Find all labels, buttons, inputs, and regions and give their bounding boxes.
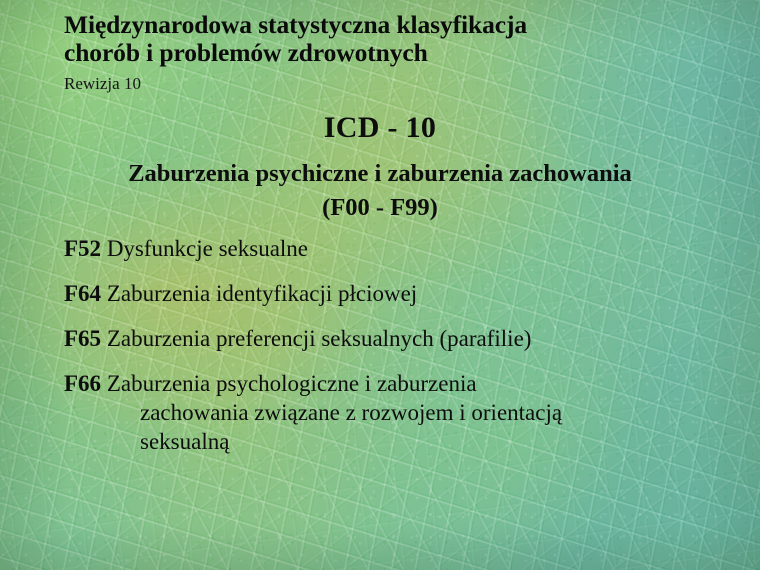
list-item: F52 Dysfunkcje seksualne [64,234,744,263]
presentation-slide: Międzynarodowa statystyczna klasyfikacja… [0,0,760,570]
list-item: F65 Zaburzenia preferencji seksualnych (… [64,324,744,353]
diagnosis-description: Zaburzenia identyfikacji płciowej [107,281,417,306]
list-item: F64 Zaburzenia identyfikacji płciowej [64,279,744,308]
slide-title: Międzynarodowa statystyczna klasyfikacja… [64,11,724,67]
list-item: F66 Zaburzenia psychologiczne i zaburzen… [64,369,744,456]
slide-revision-subtitle: Rewizja 10 [64,74,141,94]
diagnosis-description: Zaburzenia preferencji seksualnych (para… [107,326,532,351]
chapter-range-heading: (F00 - F99) [0,193,760,222]
diagnosis-code: F66 [64,371,101,396]
diagnosis-description-continued: seksualną [64,427,744,456]
diagnosis-code-list: F52 Dysfunkcje seksualne F64 Zaburzenia … [64,234,744,456]
icd-code-heading: ICD - 10 [0,111,760,145]
diagnosis-description: Dysfunkcje seksualne [107,236,308,261]
diagnosis-description-continued: zachowania związane z rozwojem i orienta… [64,398,744,427]
chapter-title-heading: Zaburzenia psychiczne i zaburzenia zacho… [0,159,760,188]
slide-title-line-2: chorób i problemów zdrowotnych [64,39,724,67]
slide-title-line-1: Międzynarodowa statystyczna klasyfikacja [64,11,724,39]
diagnosis-code: F64 [64,281,101,306]
diagnosis-code: F52 [64,236,101,261]
diagnosis-description: Zaburzenia psychologiczne i zaburzenia [107,371,477,396]
diagnosis-code: F65 [64,326,101,351]
slide-content: Międzynarodowa statystyczna klasyfikacja… [0,0,760,570]
